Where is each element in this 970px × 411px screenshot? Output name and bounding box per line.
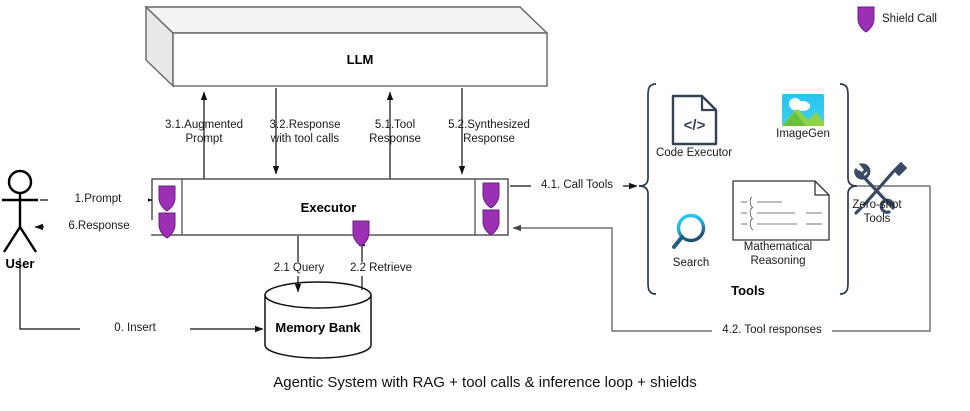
tool-label-zero-shot-tools: Zero-shot Tools <box>838 199 916 226</box>
edge-label-retrieve: 2.2 Retrieve <box>334 262 428 276</box>
edge-label-query: 2.1 Query <box>256 262 342 276</box>
edge-label-synthesized-response: 5.2.Synthesized Response <box>424 119 554 146</box>
memory-bank-label: Memory Bank <box>265 320 371 335</box>
legend-shield-label: Shield Call <box>882 13 937 25</box>
tool-label-imagegen: ImageGen <box>763 128 843 142</box>
diagram-caption: Agentic System with RAG + tool calls & i… <box>0 374 970 391</box>
user-node[interactable] <box>2 171 38 252</box>
shield-icon <box>353 221 369 246</box>
edge-label-insert: 0. Insert <box>80 322 190 336</box>
math-document-icon <box>733 181 829 240</box>
tools-group-label: Tools <box>688 283 808 298</box>
svg-text:</>: </> <box>684 117 706 134</box>
edge-label-response: 6.Response <box>44 220 154 234</box>
llm-label: LLM <box>173 52 547 67</box>
tool-label-code-executor: Code Executor <box>640 147 748 161</box>
code-document-icon: </> <box>673 96 716 144</box>
edge-label-tool-responses: 4.2. Tool responses <box>712 324 832 338</box>
llm-node[interactable] <box>146 7 547 86</box>
magnifier-icon <box>674 216 704 248</box>
tool-label-math-reasoning: Mathematical Reasoning <box>726 241 830 268</box>
executor-label: Executor <box>182 200 475 215</box>
shield-icon <box>858 7 874 32</box>
edge-insert <box>20 258 263 329</box>
edge-label-call-tools: 4.1. Call Tools <box>531 179 623 193</box>
edge-label-prompt: 1.Prompt <box>48 193 148 207</box>
tool-label-search: Search <box>656 257 726 271</box>
user-label: User <box>0 256 40 271</box>
diagram-canvas: </> <box>0 0 970 411</box>
image-picture-icon <box>782 94 824 126</box>
